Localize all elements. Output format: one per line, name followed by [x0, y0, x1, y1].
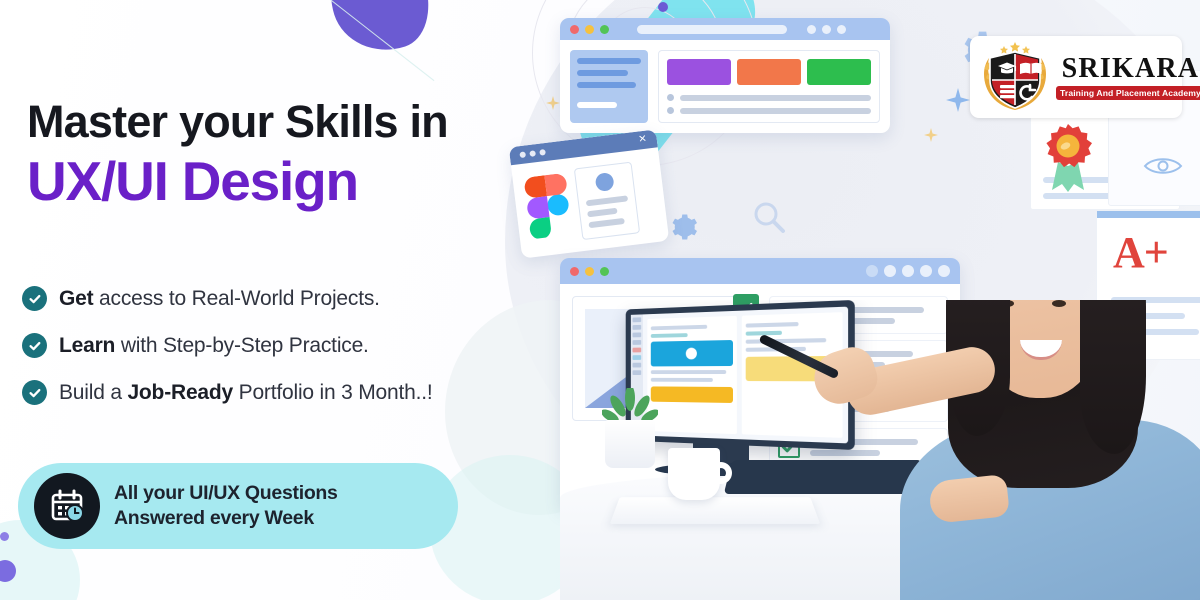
sparkle-icon	[546, 96, 560, 110]
maximize-icon[interactable]	[600, 25, 609, 34]
figma-logo-icon	[522, 172, 574, 244]
swatch-orange	[737, 59, 801, 85]
headline-line-1: Master your Skills in	[27, 98, 547, 145]
benefit-text-1: Get access to Real-World Projects.	[59, 286, 380, 311]
resting-hand	[928, 474, 1010, 524]
address-bar[interactable]	[637, 25, 787, 34]
color-swatches	[667, 59, 871, 85]
weekly-qa-text: All your UI/UX Questions Answered every …	[114, 481, 338, 531]
sidebar-panel	[570, 50, 648, 123]
keyboard-icon	[724, 460, 922, 494]
award-rosette-icon	[1040, 122, 1096, 199]
benefit-rest-2: with Step-by-Step Practice.	[115, 334, 369, 357]
weekly-qa-line-1: All your UI/UX Questions	[114, 482, 338, 504]
figma-window: ✕	[509, 129, 670, 258]
benefits-list: Get access to Real-World Projects. Learn…	[22, 286, 542, 428]
desk-photo	[560, 300, 1200, 600]
benefit-rest-3: Portfolio in 3 Month..!	[233, 381, 432, 404]
swatch-purple	[667, 59, 731, 85]
profile-card-preview	[574, 162, 640, 241]
minimize-icon[interactable]	[585, 267, 594, 276]
headline-line-2: UX/UI Design	[27, 151, 547, 212]
benefit-text-3: Build a Job-Ready Portfolio in 3 Month..…	[59, 380, 432, 405]
promo-banner: Master your Skills in UX/UI Design Get a…	[0, 0, 1200, 600]
calendar-clock-icon	[34, 473, 100, 539]
brand-name: SRIKARA	[1056, 55, 1200, 83]
open-book-icon	[610, 497, 820, 524]
check-circle-icon	[22, 286, 47, 311]
benefit-strong-2: Learn	[59, 334, 115, 357]
brand-tagline: Training And Placement Academy	[1056, 86, 1200, 100]
eye-icon	[1052, 300, 1066, 307]
hand-with-stylus	[838, 338, 988, 418]
list-item: Build a Job-Ready Portfolio in 3 Month..…	[22, 380, 542, 405]
eye-icon	[1143, 155, 1183, 182]
benefit-pre-3: Build a	[59, 381, 127, 404]
benefit-rest-1: access to Real-World Projects.	[93, 287, 379, 310]
sparkle-icon	[946, 88, 970, 112]
gear-icon	[668, 212, 698, 247]
page-title: Master your Skills in UX/UI Design	[27, 98, 547, 212]
magnifier-icon	[752, 200, 786, 239]
benefit-text-2: Learn with Step-by-Step Practice.	[59, 333, 369, 358]
check-circle-icon	[22, 380, 47, 405]
mug-handle	[710, 462, 732, 484]
browser-window-top	[560, 18, 890, 133]
close-icon[interactable]	[570, 25, 579, 34]
browser-titlebar	[560, 258, 960, 284]
benefit-strong-3: Job-Ready	[127, 381, 233, 404]
benefit-strong-1: Get	[59, 287, 93, 310]
swatch-green	[807, 59, 871, 85]
left-content: Master your Skills in UX/UI Design Get a…	[0, 0, 560, 600]
browser-titlebar	[560, 18, 890, 40]
minimize-icon[interactable]	[585, 25, 594, 34]
weekly-qa-badge[interactable]: All your UI/UX Questions Answered every …	[18, 463, 458, 549]
close-icon[interactable]: ✕	[638, 135, 648, 146]
sparkle-icon	[924, 128, 938, 142]
maximize-icon[interactable]	[600, 267, 609, 276]
weekly-qa-line-2: Answered every Week	[114, 507, 314, 529]
brand-logo[interactable]: SRIKARA Training And Placement Academy	[970, 36, 1182, 118]
content-panel	[658, 50, 880, 123]
list-item: Learn with Step-by-Step Practice.	[22, 333, 542, 358]
list-item: Get access to Real-World Projects.	[22, 286, 542, 311]
smiling-student-photo	[920, 300, 1200, 600]
grade-label: A+	[1113, 227, 1168, 278]
check-circle-icon	[22, 333, 47, 358]
shield-crest-icon	[976, 40, 1054, 114]
close-icon[interactable]	[570, 267, 579, 276]
plant-pot	[605, 420, 655, 468]
